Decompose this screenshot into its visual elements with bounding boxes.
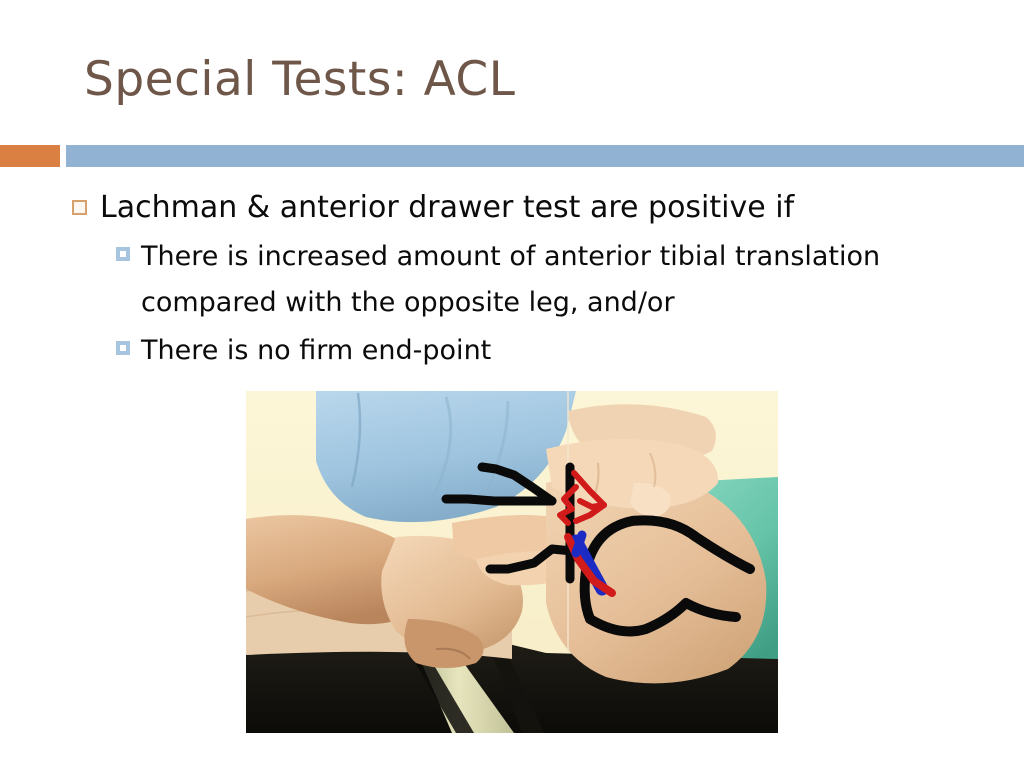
body-content: Lachman & anterior drawer test are posit… bbox=[72, 186, 972, 376]
bullet-square-icon bbox=[116, 341, 130, 355]
bullet-text: There is increased amount of anterior ti… bbox=[141, 234, 971, 326]
divider-bar bbox=[66, 145, 1024, 167]
bullet-square-icon bbox=[116, 247, 130, 261]
list-item: Lachman & anterior drawer test are posit… bbox=[72, 186, 972, 230]
photo-graphic bbox=[246, 391, 778, 733]
bullet-square-icon bbox=[72, 200, 87, 215]
page-title: Special Tests: ACL bbox=[84, 52, 515, 107]
lachman-test-photograph bbox=[246, 391, 778, 733]
list-item: There is no firm end-point bbox=[116, 328, 972, 374]
slide: Special Tests: ACL Lachman & anterior dr… bbox=[0, 0, 1024, 768]
list-item: There is increased amount of anterior ti… bbox=[116, 234, 972, 326]
bullet-text: There is no firm end-point bbox=[141, 328, 491, 374]
accent-bar bbox=[0, 145, 60, 167]
bullet-text: Lachman & anterior drawer test are posit… bbox=[100, 186, 794, 230]
